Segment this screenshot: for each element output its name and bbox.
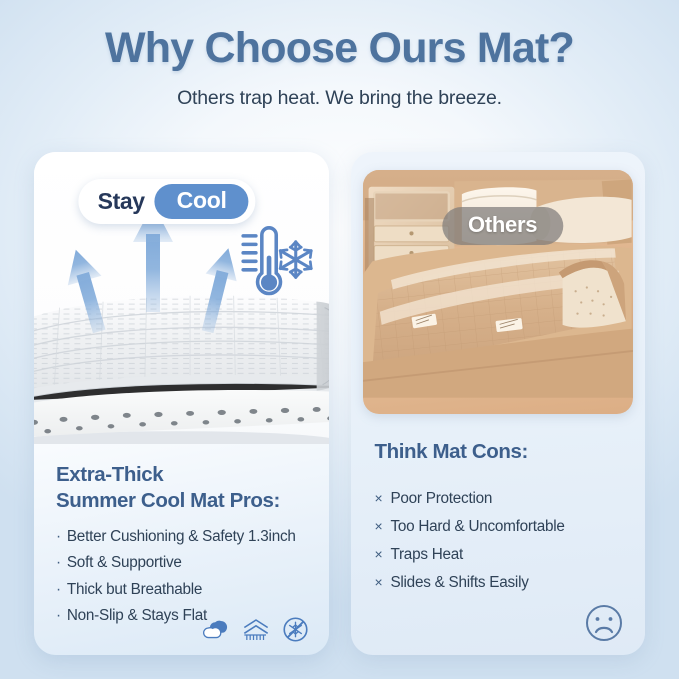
pros-list: · Better Cushioning & Safety 1.3inch · S… [56, 524, 307, 629]
page-subtitle: Others trap heat. We bring the breeze. [0, 87, 679, 110]
ours-product-image: Stay Cool [34, 152, 329, 444]
cross-icon: × [375, 519, 383, 534]
list-item: · Soft & Supportive [56, 550, 307, 576]
ours-heading-line2: Summer Cool Mat Pros: [56, 488, 307, 514]
pros-item-label: Non-Slip & Stays Flat [67, 608, 207, 623]
bullet-icon: · [56, 529, 61, 544]
competitor-mat-on-bed-image [363, 170, 633, 398]
sad-face-icon [584, 603, 624, 643]
ours-heading-line1: Extra-Thick [56, 462, 307, 488]
thermometer-snowflake-icon [229, 224, 315, 302]
bullet-icon: · [56, 582, 61, 597]
stay-cool-badge-accent-label: Cool [155, 184, 249, 219]
cross-icon: × [375, 547, 383, 562]
breathable-layers-icon [241, 617, 271, 643]
cross-icon: × [375, 575, 383, 590]
page-header: Why Choose Ours Mat? Others trap heat. W… [0, 24, 679, 110]
pros-item-label: Soft & Supportive [67, 555, 182, 570]
pros-item-label: Better Cushioning & Safety 1.3inch [67, 529, 296, 544]
others-badge: Others [442, 207, 563, 245]
others-heading: Think Mat Cons: [375, 440, 624, 464]
list-item: × Too Hard & Uncomfortable [375, 512, 624, 540]
list-item: × Slides & Shifts Easily [375, 569, 624, 597]
cooling-cloud-icon [202, 617, 230, 643]
ours-heading: Extra-Thick Summer Cool Mat Pros: [56, 462, 307, 514]
comparison-cards: Stay Cool Extra-Thick Summer Cool Mat Pr… [0, 152, 679, 655]
pros-item-label: Thick but Breathable [67, 582, 202, 597]
cons-item-label: Slides & Shifts Easily [390, 575, 528, 590]
cons-item-label: Too Hard & Uncomfortable [390, 519, 564, 534]
others-text-panel: Think Mat Cons: × Poor Protection × Too … [351, 414, 646, 655]
bullet-icon: · [56, 555, 61, 570]
cons-item-label: Poor Protection [390, 491, 492, 506]
stay-cool-badge-static-label: Stay [98, 188, 145, 215]
stay-cool-badge: Stay Cool [79, 179, 256, 224]
others-product-image: Others [363, 170, 634, 414]
ours-text-panel: Extra-Thick Summer Cool Mat Pros: · Bett… [34, 444, 329, 655]
page-title: Why Choose Ours Mat? [0, 24, 679, 73]
list-item: × Poor Protection [375, 484, 624, 512]
anti-mite-icon [282, 616, 309, 643]
cross-icon: × [375, 491, 383, 506]
card-others: Others Think Mat Cons: × Poor Protection… [351, 152, 646, 655]
cons-item-label: Traps Heat [390, 547, 463, 562]
card-ours: Stay Cool Extra-Thick Summer Cool Mat Pr… [34, 152, 329, 655]
list-item: · Better Cushioning & Safety 1.3inch [56, 524, 307, 550]
list-item: × Traps Heat [375, 541, 624, 569]
feature-icon-row [202, 616, 309, 643]
list-item: · Thick but Breathable [56, 576, 307, 602]
bullet-icon: · [56, 608, 61, 623]
cons-list: × Poor Protection × Too Hard & Uncomfort… [375, 484, 624, 597]
